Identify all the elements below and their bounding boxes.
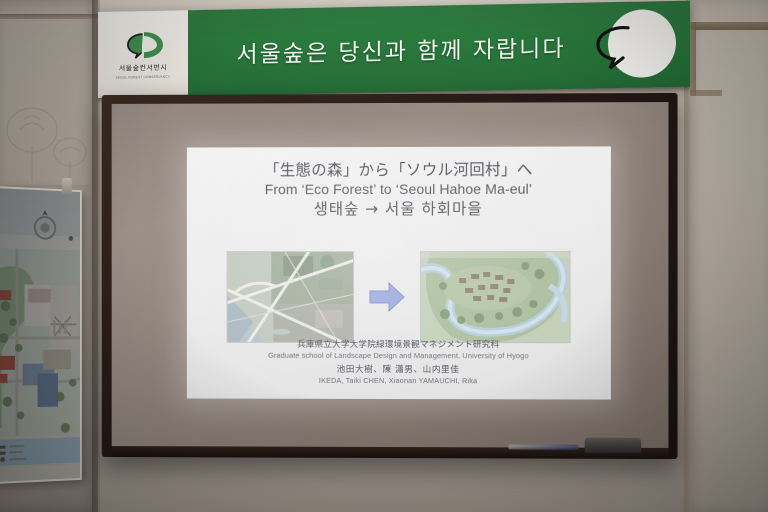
tree-illustration-mural — [2, 86, 94, 196]
slide-title-korean: 생태숲 → 서울 하회마을 — [187, 198, 611, 219]
poster-clip — [62, 178, 72, 194]
left-wall-ceiling-seam — [0, 14, 98, 19]
credits-affiliation-english: Graduate school of Landscape Design and … — [187, 351, 611, 361]
leaf-outline-on-circle-icon — [592, 22, 638, 71]
right-arrow-icon — [368, 280, 406, 314]
banner-logo-name-en: SEOUL FOREST CONSERVANCY — [116, 74, 171, 79]
eco-forest-aerial-photo — [227, 251, 354, 343]
hahoe-village-map — [420, 251, 571, 343]
banner-slogan: 서울숲은 당신과 함께 자랍니다 — [202, 28, 600, 70]
projected-slide: 「生態の森」から「ソウル河回村」へ From ‘Eco Forest’ to ‘… — [187, 146, 611, 399]
slide-title-english: From ‘Eco Forest’ to ‘Seoul Hahoe Ma-eul… — [187, 180, 611, 199]
banner-logo-name-ko: 서울숲컨서번시 — [119, 62, 168, 73]
credits-authors-english: IKEDA, Taiki CHEN, Xiaonan YAMAUCHI, Rik… — [187, 376, 611, 386]
leaf-speech-bubble-icon — [121, 29, 165, 60]
right-wall — [686, 0, 768, 512]
right-wall-trim-lower — [690, 90, 722, 96]
seoul-forest-banner: 서울숲컨서번시 SEOUL FOREST CONSERVANCY 서울숲은 당신… — [98, 1, 690, 98]
credits-affiliation-japanese: 兵庫県立大学大学院緑環境景観マネジメント研究科 — [187, 338, 611, 351]
slide-title-block: 「生態の森」から「ソウル河回村」へ From ‘Eco Forest’ to ‘… — [187, 160, 611, 218]
slide-credits: 兵庫県立大学大学院緑環境景観マネジメント研究科 Graduate school … — [187, 338, 611, 386]
whiteboard-marker — [508, 444, 578, 449]
projection-whiteboard: 「生態の森」から「ソウル河回村」へ From ‘Eco Forest’ to ‘… — [102, 93, 678, 459]
credits-authors-japanese: 池田大樹、陳 瀟男、山内里佳 — [187, 363, 611, 376]
whiteboard-surface: 「生態の森」から「ソウル河回村」へ From ‘Eco Forest’ to ‘… — [112, 102, 669, 448]
eraser-tray-device — [585, 438, 641, 453]
banner-logo-panel: 서울숲컨서번시 SEOUL FOREST CONSERVANCY — [98, 10, 188, 98]
right-wall-trim-beam — [690, 22, 768, 30]
slide-title-japanese: 「生態の森」から「ソウル河回村」へ — [187, 160, 611, 180]
slide-figure-row — [187, 251, 611, 343]
park-site-plan-poster — [0, 186, 82, 484]
banner-green-field: 서울숲은 당신과 함께 자랍니다 — [188, 1, 690, 97]
room-scene: 서울숲컨서번시 SEOUL FOREST CONSERVANCY 서울숲은 당신… — [0, 0, 768, 512]
